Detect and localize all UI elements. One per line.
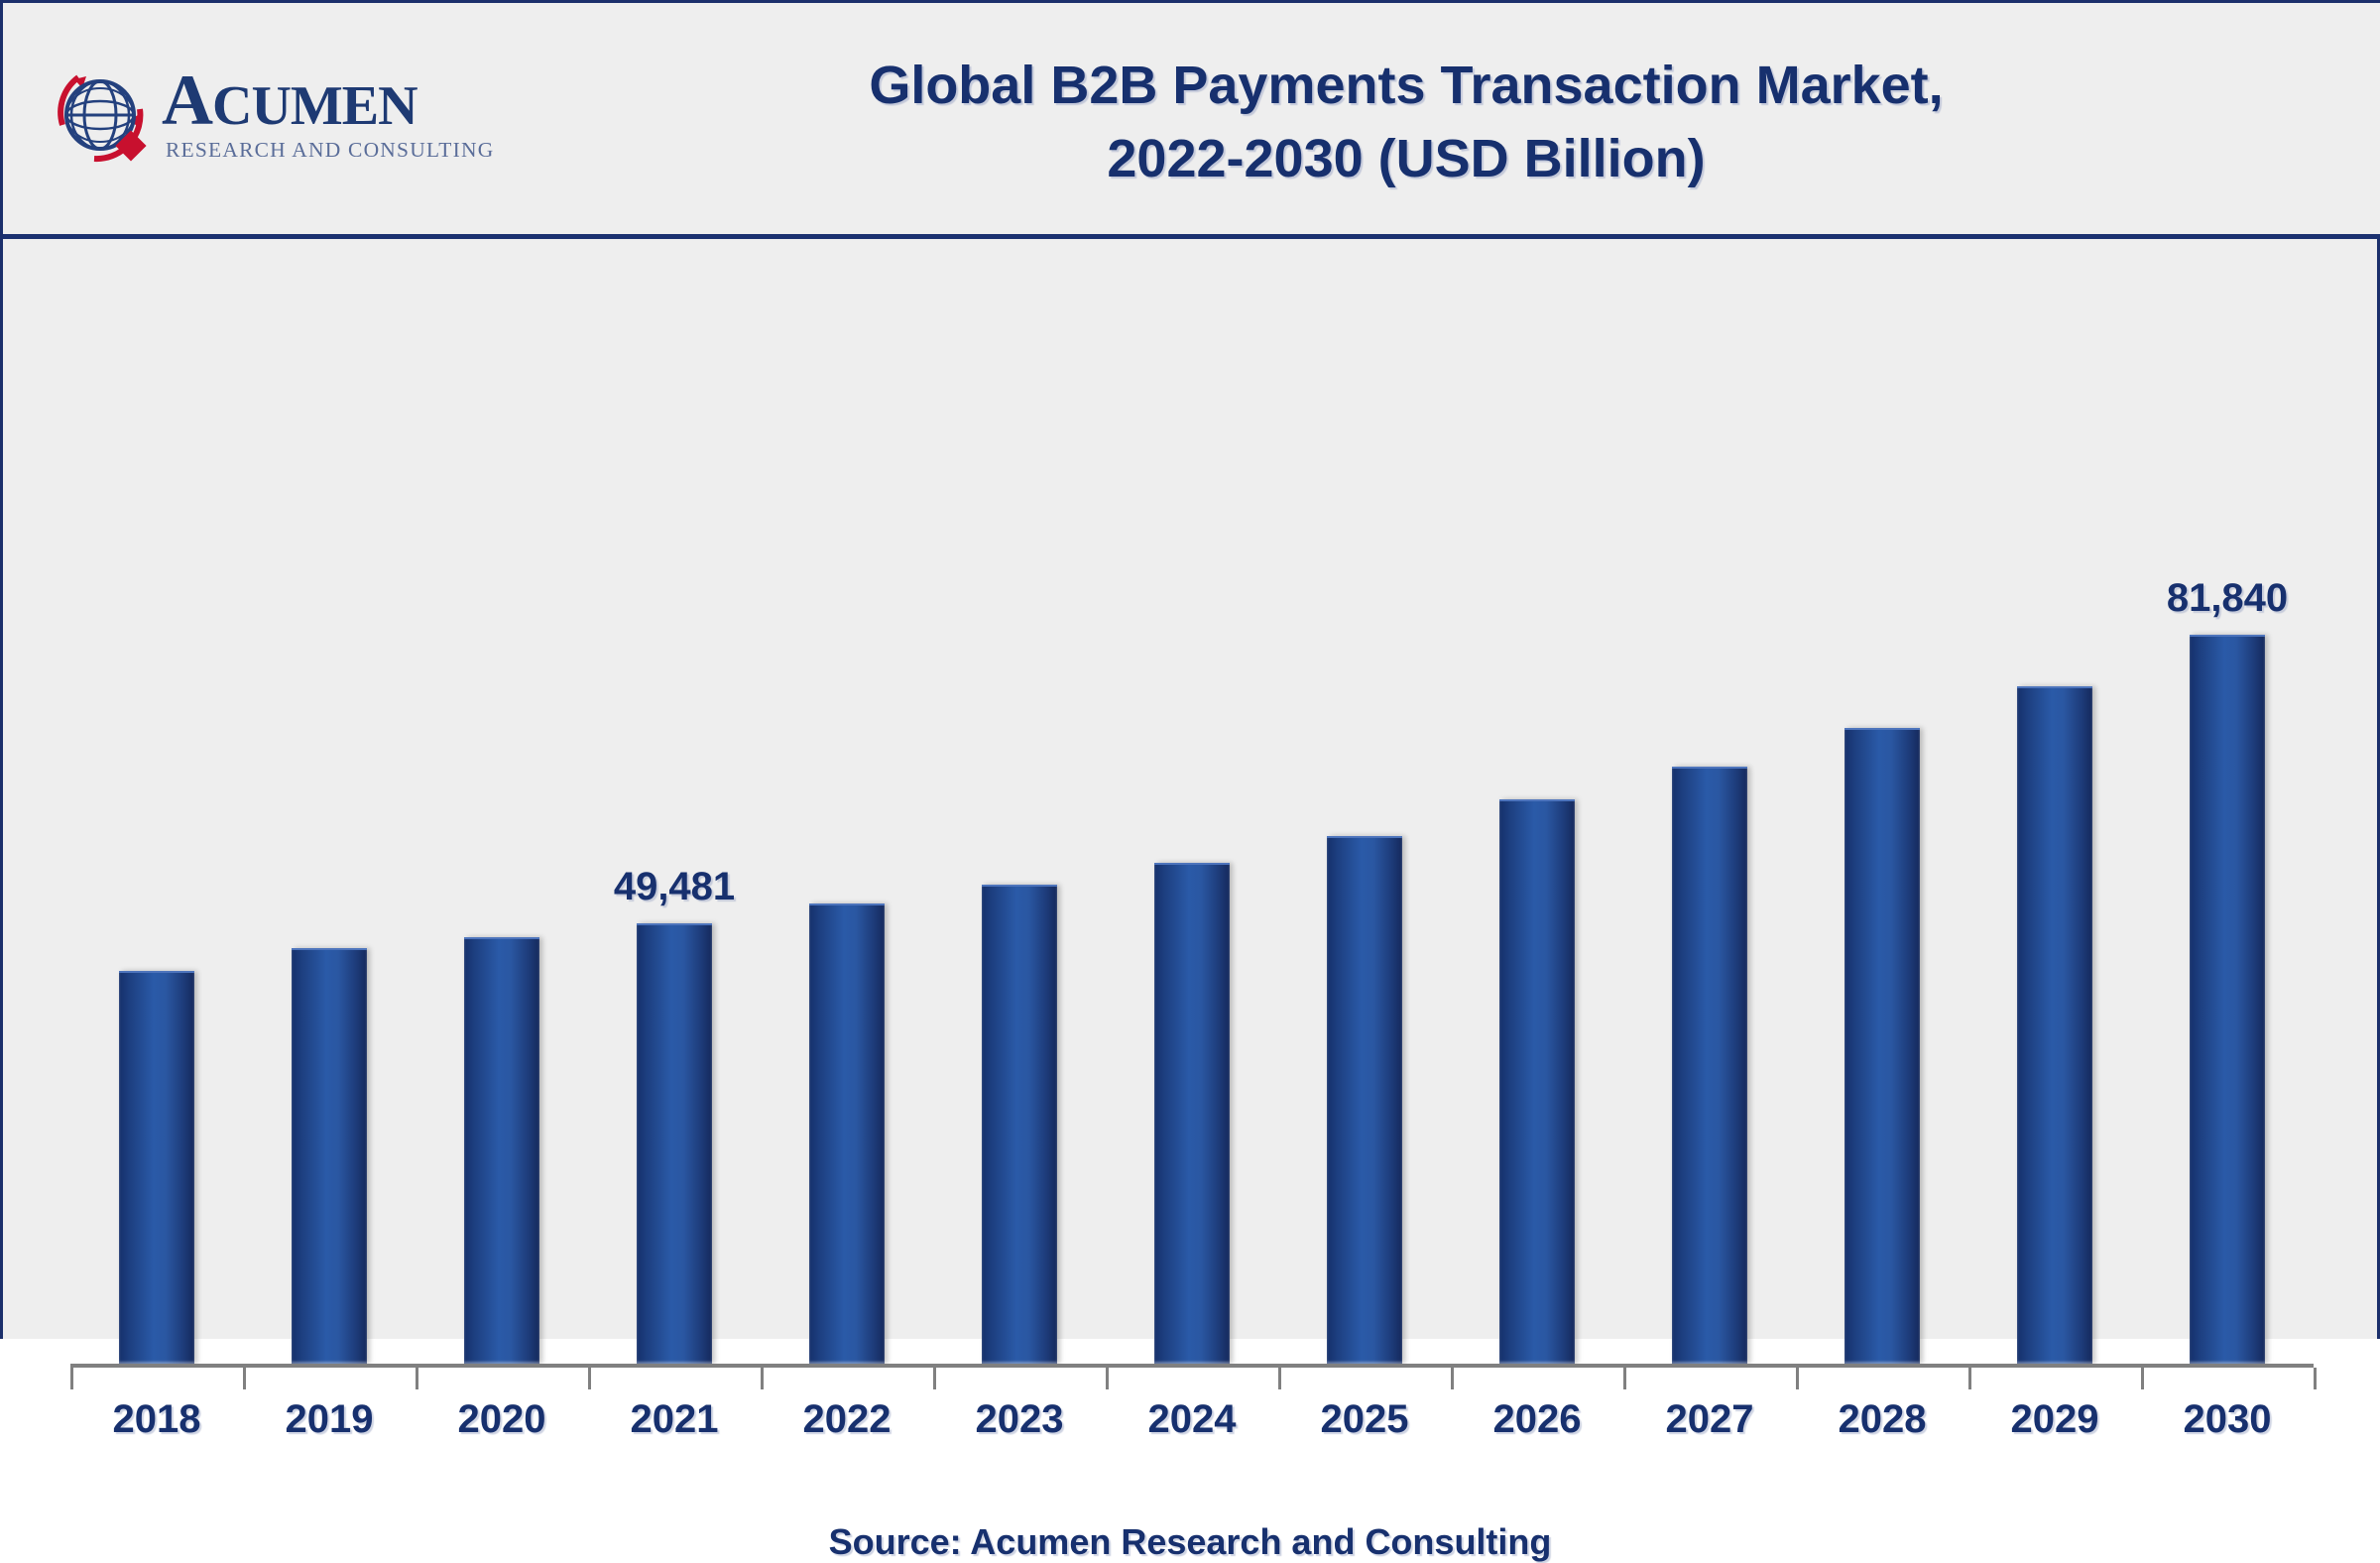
chart-area: 49,48181,840 201820192020202120222023202… [3, 244, 2377, 1339]
x-axis-label-2028: 2028 [1796, 1397, 1968, 1442]
bar-series: 49,48181,840 [70, 363, 2314, 1364]
header: ACUMEN RESEARCH AND CONSULTING Global B2… [3, 3, 2380, 239]
bar-2022[interactable] [809, 903, 885, 1364]
bar-slot [416, 363, 588, 1364]
logo-wordmark: ACUMEN RESEARCH AND CONSULTING [162, 72, 494, 162]
x-axis-label-2020: 2020 [416, 1397, 588, 1442]
bar-slot: 81,840 [2141, 363, 2314, 1364]
x-axis-tick [1451, 1368, 1454, 1389]
bar-2027[interactable] [1672, 767, 1747, 1364]
bar-slot [1623, 363, 1796, 1364]
bar-slot [1968, 363, 2141, 1364]
globe-icon [49, 63, 156, 171]
x-axis-label-2021: 2021 [588, 1397, 761, 1442]
acumen-logo: ACUMEN RESEARCH AND CONSULTING [49, 43, 465, 191]
bar-slot [243, 363, 416, 1364]
x-axis-label-2027: 2027 [1623, 1397, 1796, 1442]
x-axis-label-2023: 2023 [933, 1397, 1106, 1442]
bar-slot [1451, 363, 1623, 1364]
x-axis-label-2019: 2019 [243, 1397, 416, 1442]
x-axis-labels: 2018201920202021202220232024202520262027… [70, 1397, 2314, 1442]
bar-2023[interactable] [982, 885, 1057, 1364]
x-axis-tick [933, 1368, 936, 1389]
chart-infographic: ACUMEN RESEARCH AND CONSULTING Global B2… [0, 0, 2380, 1339]
x-axis-tick [1623, 1368, 1626, 1389]
x-axis-label-2025: 2025 [1278, 1397, 1451, 1442]
bar-2029[interactable] [2017, 686, 2092, 1364]
x-axis-label-2026: 2026 [1451, 1397, 1623, 1442]
x-axis-tick [2141, 1368, 2144, 1389]
x-axis-tick [1796, 1368, 1799, 1389]
bar-2026[interactable] [1499, 799, 1575, 1364]
bar-2018[interactable] [119, 971, 194, 1364]
bar-value-label: 81,840 [2167, 576, 2288, 621]
logo-name: ACUMEN [162, 72, 494, 134]
bar-slot: 49,481 [588, 363, 761, 1364]
bar-slot [761, 363, 933, 1364]
x-axis-tick [1106, 1368, 1109, 1389]
bar-2030[interactable] [2190, 635, 2265, 1364]
x-axis-label-2024: 2024 [1106, 1397, 1278, 1442]
x-axis-label-2018: 2018 [70, 1397, 243, 1442]
x-axis-label-2022: 2022 [761, 1397, 933, 1442]
x-axis-label-2030: 2030 [2141, 1397, 2314, 1442]
x-axis-tick [761, 1368, 764, 1389]
x-axis-tick [1278, 1368, 1281, 1389]
bar-2020[interactable] [464, 937, 539, 1364]
bar-slot [1278, 363, 1451, 1364]
x-axis-tick [2314, 1368, 2317, 1389]
bar-2021[interactable] [637, 923, 712, 1364]
page-title: Global B2B Payments Transaction Market, … [519, 49, 2294, 195]
x-axis-tick [588, 1368, 591, 1389]
bar-2019[interactable] [292, 948, 367, 1364]
x-axis-tick [70, 1368, 73, 1389]
x-axis-tick [1968, 1368, 1971, 1389]
logo-name-initial: A [162, 60, 212, 140]
x-axis-tick [416, 1368, 418, 1389]
bar-slot [1106, 363, 1278, 1364]
bar-slot [933, 363, 1106, 1364]
source-note: Source: Acumen Research and Consulting [3, 1521, 2377, 1563]
x-axis-tick [243, 1368, 246, 1389]
x-axis-line [70, 1364, 2314, 1368]
logo-name-rest: CUMEN [212, 75, 417, 137]
bar-2024[interactable] [1154, 863, 1230, 1364]
plot-region: 49,48181,840 [70, 363, 2314, 1368]
bar-slot [70, 363, 243, 1364]
x-axis-label-2029: 2029 [1968, 1397, 2141, 1442]
logo-tagline: RESEARCH AND CONSULTING [166, 138, 494, 162]
bar-slot [1796, 363, 1968, 1364]
bar-value-label: 49,481 [614, 865, 735, 909]
bar-2028[interactable] [1844, 728, 1920, 1364]
bar-2025[interactable] [1327, 836, 1402, 1364]
